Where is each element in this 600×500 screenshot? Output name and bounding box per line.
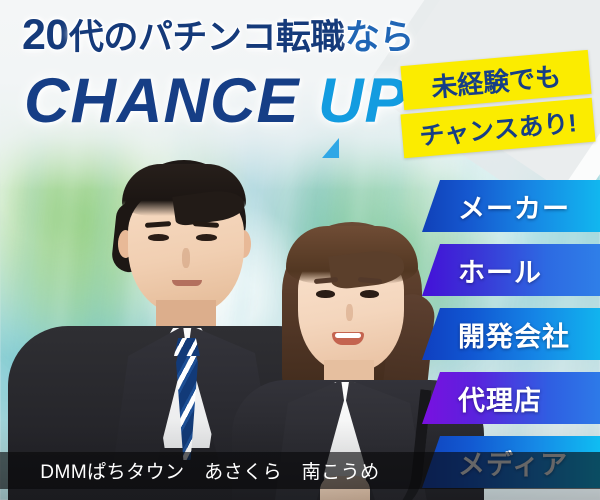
category-label-hall: ホール [458, 251, 542, 290]
category-list: メーカー ホール 開発会社 代理店 メディア [0, 0, 600, 500]
category-label-developer: 開発会社 [458, 315, 570, 354]
caption-credit: DMMぱちタウン あさくら 南こうめ [0, 452, 420, 489]
category-label-agency: 代理店 [458, 379, 542, 418]
category-button-developer[interactable]: 開発会社 [422, 308, 600, 360]
category-button-hall[interactable]: ホール [422, 244, 600, 296]
banner-ad[interactable]: 20代のパチンコ転職なら CHANCE UP 未経験でも チャンスあり! メーカ… [0, 0, 600, 500]
category-button-agency[interactable]: 代理店 [422, 372, 600, 424]
category-label-maker: メーカー [458, 187, 570, 226]
category-button-maker[interactable]: メーカー [422, 180, 600, 232]
